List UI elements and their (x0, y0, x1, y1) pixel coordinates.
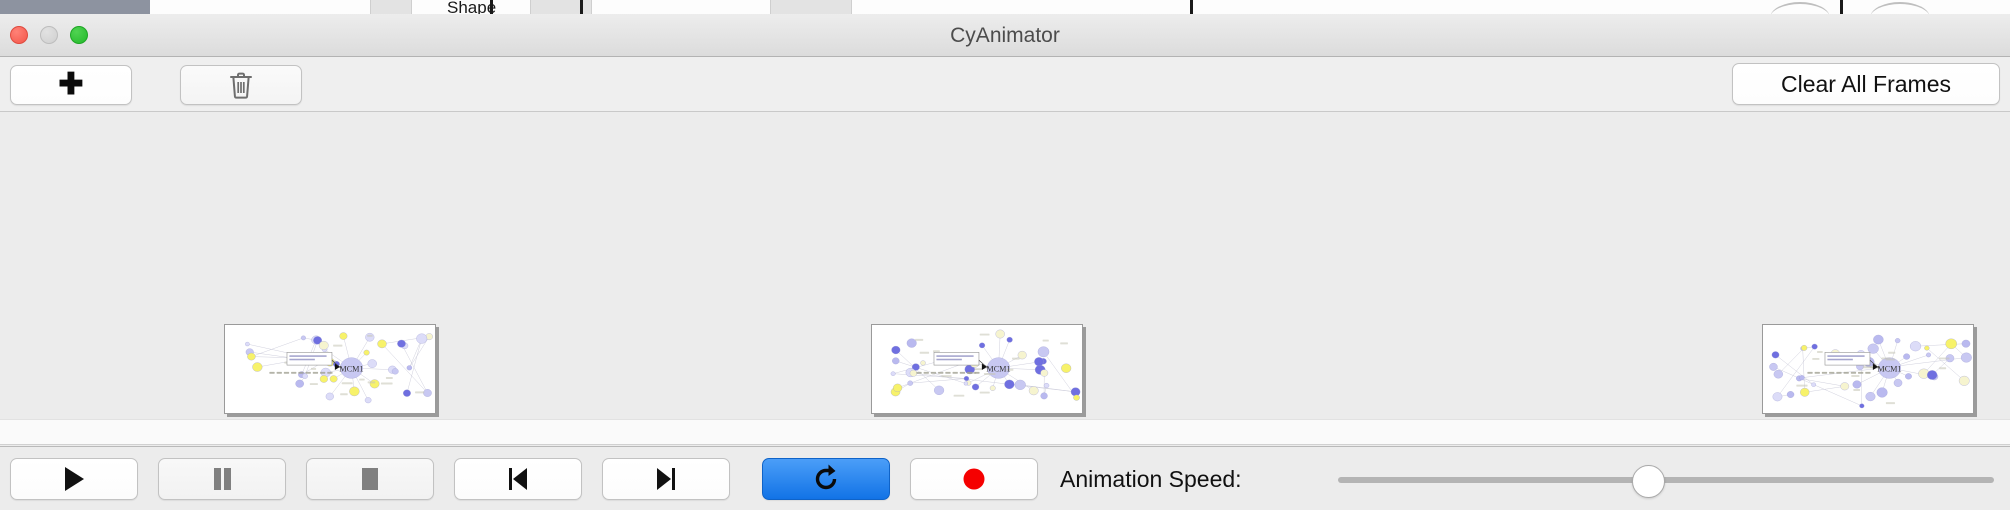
timeline-panel[interactable]: MCM1MCM1MCM1 2131415161718 Seconds (0, 112, 2010, 417)
trash-icon (229, 72, 253, 99)
animation-speed-slider[interactable] (1338, 477, 1994, 483)
background-window-label: Shape (447, 0, 496, 15)
background-window-strip: Shape (0, 0, 2010, 15)
cyanimator-window: Shape CyAnimator ✚ Clear All Frames (0, 0, 2010, 510)
frames-track[interactable] (0, 112, 2010, 307)
stop-icon (357, 465, 383, 493)
play-button[interactable] (10, 458, 138, 500)
title-bar: CyAnimator (0, 14, 2010, 57)
clear-all-frames-button[interactable]: Clear All Frames (1732, 63, 2000, 105)
animation-speed-slider-thumb[interactable] (1632, 465, 1665, 498)
add-frame-button[interactable]: ✚ (10, 65, 132, 105)
svg-text:MCM1: MCM1 (1877, 364, 1901, 373)
svg-text:MCM1: MCM1 (986, 364, 1010, 373)
delete-frame-button[interactable] (180, 65, 302, 105)
next-frame-button[interactable] (602, 458, 730, 500)
loop-icon (811, 464, 841, 494)
skip-forward-icon (652, 465, 680, 493)
frame-thumbnail[interactable]: MCM1 (1762, 324, 1974, 414)
record-button[interactable] (910, 458, 1038, 500)
timeline-scrollbar[interactable] (0, 419, 2010, 445)
pause-button[interactable] (158, 458, 286, 500)
stop-button[interactable] (306, 458, 434, 500)
previous-frame-button[interactable] (454, 458, 582, 500)
pause-icon (209, 465, 235, 493)
frame-thumbnail[interactable]: MCM1 (224, 324, 436, 414)
skip-back-icon (504, 465, 532, 493)
window-title: CyAnimator (0, 14, 2010, 57)
background-window-dark-panel (0, 0, 150, 14)
play-icon (61, 465, 87, 493)
svg-text:MCM1: MCM1 (340, 364, 364, 373)
animation-speed-label: Animation Speed: (1060, 458, 1242, 500)
playback-toolbar: Animation Speed: (0, 446, 2010, 510)
loop-button[interactable] (762, 458, 890, 500)
frames-toolbar: ✚ Clear All Frames (0, 57, 2010, 112)
clear-all-frames-label: Clear All Frames (1781, 71, 1951, 98)
record-icon (961, 466, 987, 492)
plus-icon: ✚ (58, 70, 83, 100)
frame-thumbnail[interactable]: MCM1 (871, 324, 1083, 414)
